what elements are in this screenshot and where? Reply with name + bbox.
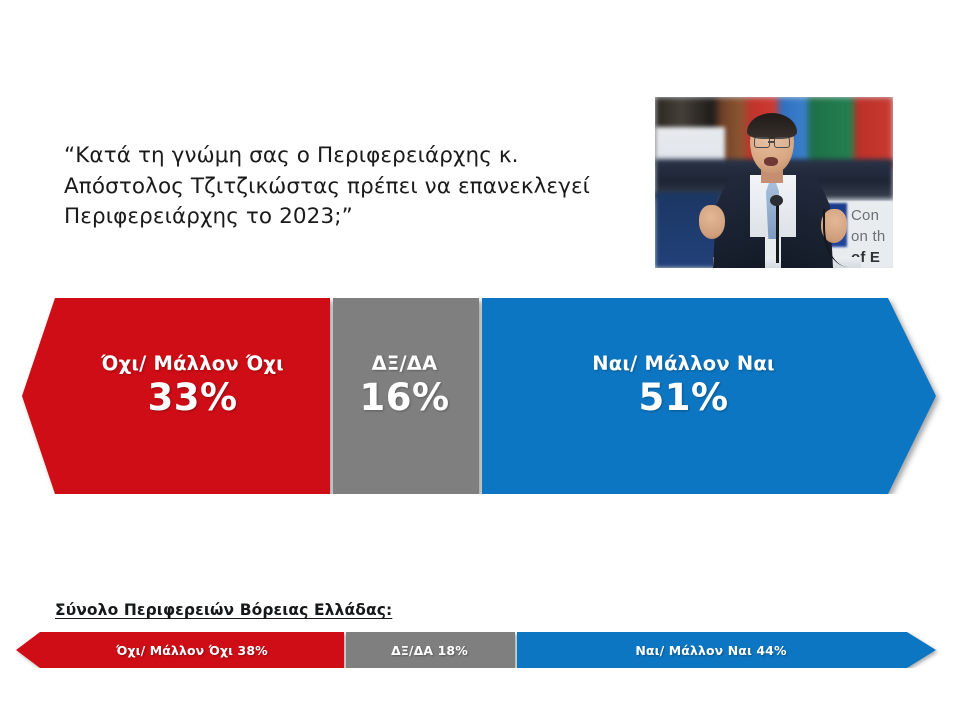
- summary-arrow-chart: [0, 632, 960, 668]
- chart-segment-yes: [482, 298, 936, 494]
- summary-segment-dont-know: [346, 632, 515, 668]
- photo-microphone-stem: [776, 201, 779, 263]
- photo-mouth: [764, 157, 778, 166]
- speaker-photo: Conon thof E: [655, 97, 893, 268]
- summary-segment-no: [16, 632, 344, 668]
- chart-segment-no: [22, 298, 330, 494]
- summary-chart-title: Σύνολο Περιφερειών Βόρειας Ελλάδας:: [55, 601, 392, 619]
- page-title: “Κατά τη γνώμη σας ο Περιφερειάρχης κ. Α…: [64, 141, 624, 233]
- chart-segment-dont-know: [333, 298, 479, 494]
- photo-glasses-bridge: [768, 141, 774, 143]
- summary-segment-yes: [517, 632, 936, 668]
- photo-microphone-head: [770, 195, 783, 206]
- main-arrow-chart: [0, 298, 960, 494]
- slide-canvas: “Κατά τη γνώμη σας ο Περιφερειάρχης κ. Α…: [0, 0, 960, 720]
- photo-hand-left: [699, 205, 725, 239]
- photo-glasses-right: [774, 137, 790, 148]
